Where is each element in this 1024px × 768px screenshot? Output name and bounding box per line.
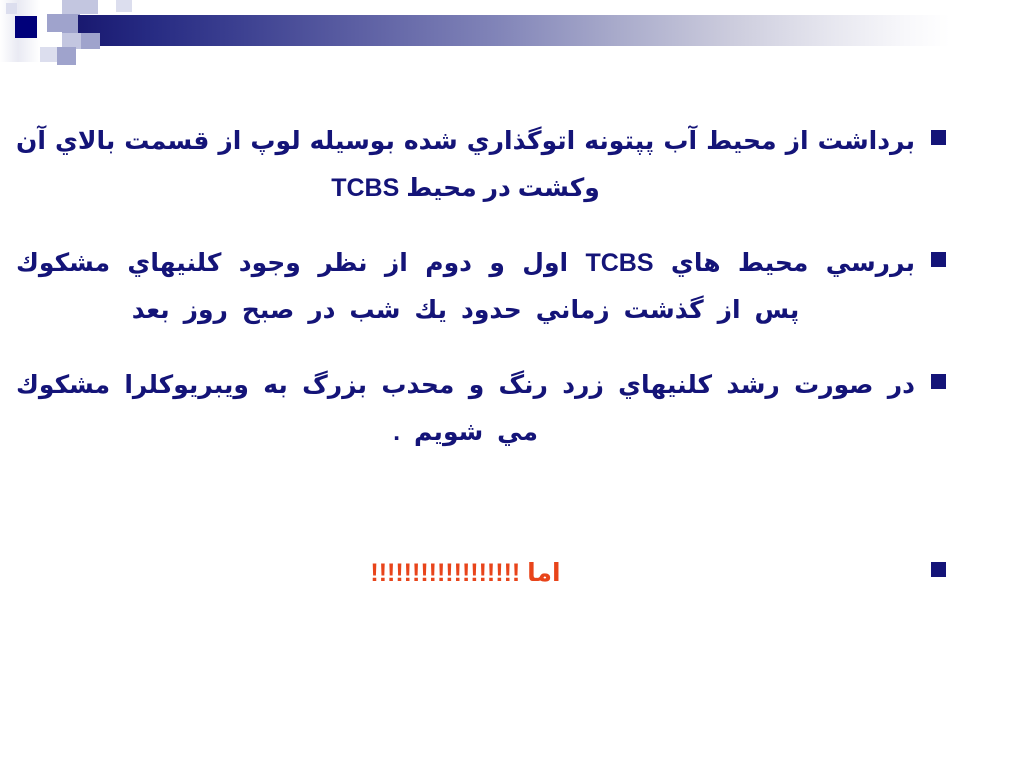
decor-square-pale-2 <box>116 0 132 12</box>
decor-square-dark <box>15 16 37 38</box>
bullet-text-3: در صورت رشد كلنيهاي زرد رنگ و محدب بزرگ … <box>16 362 915 456</box>
decor-square-light-2 <box>80 0 98 14</box>
bullet-marker-icon-4 <box>931 562 946 577</box>
bullet-marker-icon-1 <box>931 130 946 145</box>
bullet-marker-icon-3 <box>931 374 946 389</box>
decor-square-light-1 <box>62 0 80 14</box>
bullet-item-2: بررسي محيط هاي TCBS اول و دوم از نظر وجو… <box>16 240 946 334</box>
bullet-text-2: بررسي محيط هاي TCBS اول و دوم از نظر وجو… <box>16 240 915 334</box>
slide-content-body: برداشت از محيط آب پپتونه اتوگذاري شده بو… <box>0 104 1024 704</box>
bullet-text-4: اما !!!!!!!!!!!!!!!!!! <box>16 550 915 597</box>
slide-header-decoration <box>0 0 1024 80</box>
header-gradient-bar <box>78 15 950 46</box>
bullet-marker-icon-2 <box>931 252 946 267</box>
bullet-item-3: در صورت رشد كلنيهاي زرد رنگ و محدب بزرگ … <box>16 362 946 456</box>
bullet-text-1: برداشت از محيط آب پپتونه اتوگذاري شده بو… <box>16 118 915 212</box>
decor-square-mid-3 <box>81 33 100 49</box>
bullet-item-4: اما !!!!!!!!!!!!!!!!!! <box>16 550 946 597</box>
decor-square-pale-1 <box>6 3 17 14</box>
decor-square-pale-3 <box>40 47 57 62</box>
bullet-item-1: برداشت از محيط آب پپتونه اتوگذاري شده بو… <box>16 118 946 212</box>
decor-square-mid-4 <box>57 47 76 65</box>
